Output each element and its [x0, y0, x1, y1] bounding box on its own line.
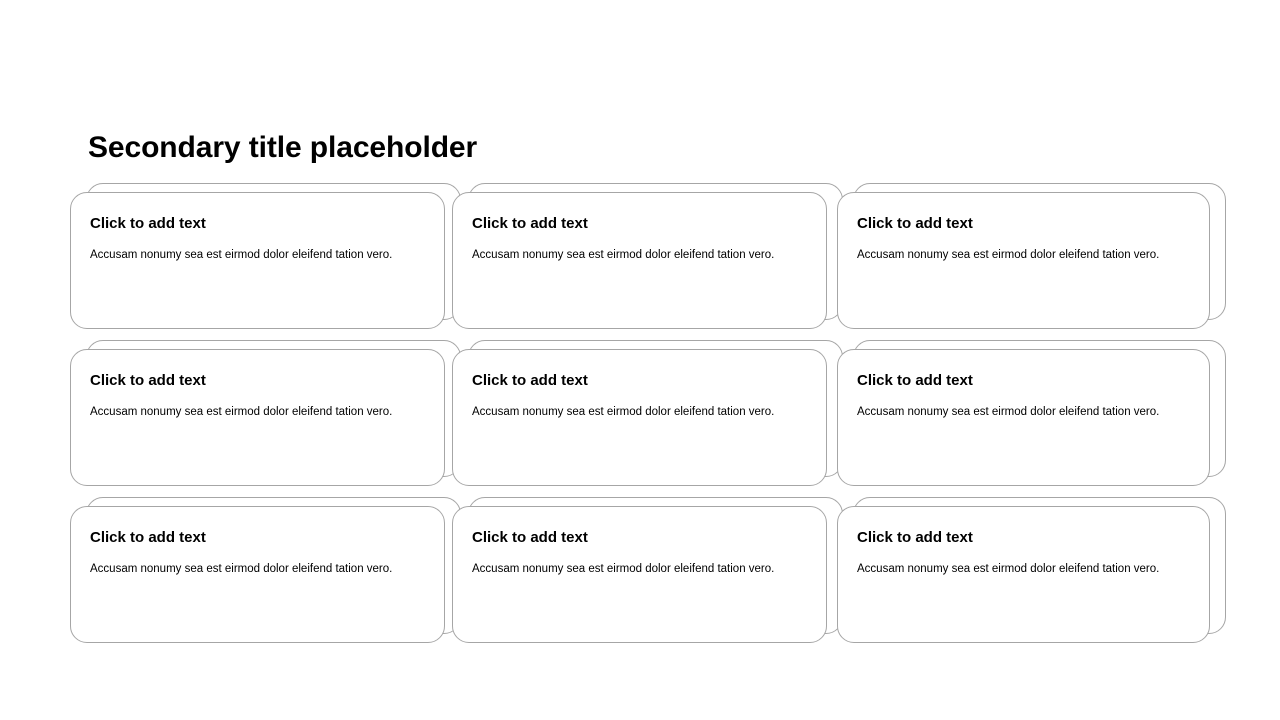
card-heading[interactable]: Click to add text	[472, 528, 805, 547]
card-6[interactable]: Click to add text Accusam nonumy sea est…	[837, 349, 1210, 486]
card-content: Click to add text Accusam nonumy sea est…	[452, 192, 827, 329]
card-text[interactable]: Accusam nonumy sea est eirmod dolor elei…	[472, 560, 805, 578]
card-text[interactable]: Accusam nonumy sea est eirmod dolor elei…	[857, 246, 1188, 264]
card-content: Click to add text Accusam nonumy sea est…	[452, 349, 827, 486]
card-heading[interactable]: Click to add text	[857, 528, 1188, 547]
card-text[interactable]: Accusam nonumy sea est eirmod dolor elei…	[857, 560, 1188, 578]
card-text[interactable]: Accusam nonumy sea est eirmod dolor elei…	[90, 246, 423, 264]
card-text[interactable]: Accusam nonumy sea est eirmod dolor elei…	[90, 403, 423, 421]
card-2[interactable]: Click to add text Accusam nonumy sea est…	[452, 192, 827, 329]
card-7[interactable]: Click to add text Accusam nonumy sea est…	[70, 506, 445, 643]
card-heading[interactable]: Click to add text	[857, 371, 1188, 390]
card-content: Click to add text Accusam nonumy sea est…	[837, 192, 1210, 329]
card-heading[interactable]: Click to add text	[472, 214, 805, 233]
card-content: Click to add text Accusam nonumy sea est…	[70, 192, 445, 329]
card-heading[interactable]: Click to add text	[90, 371, 423, 390]
card-grid: Click to add text Accusam nonumy sea est…	[0, 0, 1280, 720]
card-text[interactable]: Accusam nonumy sea est eirmod dolor elei…	[472, 403, 805, 421]
card-5[interactable]: Click to add text Accusam nonumy sea est…	[452, 349, 827, 486]
slide-canvas: Secondary title placeholder Click to add…	[0, 0, 1280, 720]
card-heading[interactable]: Click to add text	[90, 528, 423, 547]
card-heading[interactable]: Click to add text	[472, 371, 805, 390]
card-content: Click to add text Accusam nonumy sea est…	[452, 506, 827, 643]
card-content: Click to add text Accusam nonumy sea est…	[70, 349, 445, 486]
card-content: Click to add text Accusam nonumy sea est…	[837, 506, 1210, 643]
card-4[interactable]: Click to add text Accusam nonumy sea est…	[70, 349, 445, 486]
card-1[interactable]: Click to add text Accusam nonumy sea est…	[70, 192, 445, 329]
card-9[interactable]: Click to add text Accusam nonumy sea est…	[837, 506, 1210, 643]
card-content: Click to add text Accusam nonumy sea est…	[837, 349, 1210, 486]
card-content: Click to add text Accusam nonumy sea est…	[70, 506, 445, 643]
card-heading[interactable]: Click to add text	[857, 214, 1188, 233]
card-text[interactable]: Accusam nonumy sea est eirmod dolor elei…	[857, 403, 1188, 421]
card-8[interactable]: Click to add text Accusam nonumy sea est…	[452, 506, 827, 643]
card-text[interactable]: Accusam nonumy sea est eirmod dolor elei…	[472, 246, 805, 264]
card-3[interactable]: Click to add text Accusam nonumy sea est…	[837, 192, 1210, 329]
card-heading[interactable]: Click to add text	[90, 214, 423, 233]
card-text[interactable]: Accusam nonumy sea est eirmod dolor elei…	[90, 560, 423, 578]
